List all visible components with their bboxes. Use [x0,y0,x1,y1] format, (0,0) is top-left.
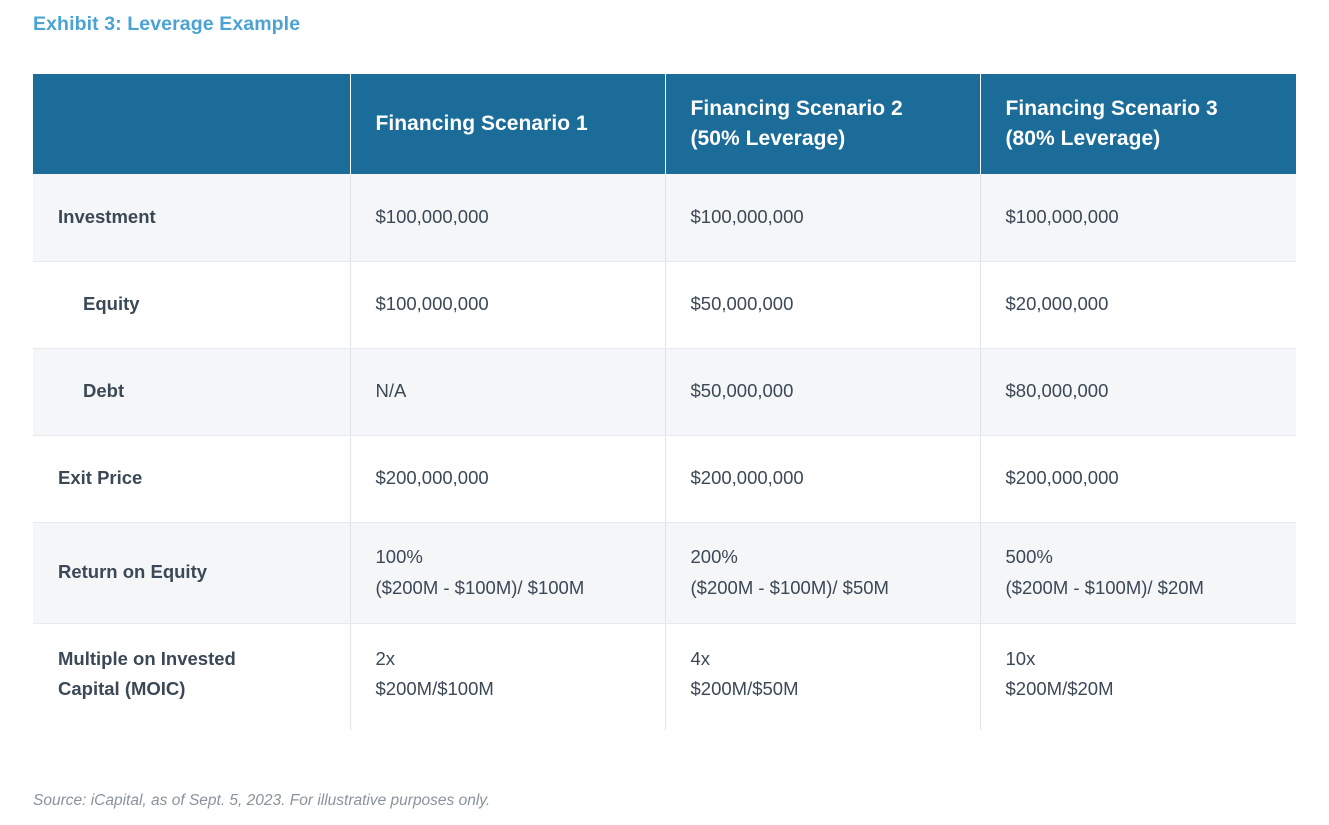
moic-label-line-2: Capital (MOIC) [58,676,336,703]
cell-debt-scenario-1: N/A [350,348,665,435]
roe-s3-percent: 500% [1006,544,1283,571]
cell-equity-scenario-2: $50,000,000 [665,261,980,348]
cell-exit-price-scenario-2: $200,000,000 [665,435,980,522]
moic-s2-formula: $200M/$50M [691,676,966,703]
table-header-row: Financing Scenario 1 Financing Scenario … [33,74,1296,174]
exhibit-page: Exhibit 3: Leverage Example Financing Sc… [0,0,1329,825]
cell-moic-scenario-3: 10x $200M/$20M [980,623,1296,730]
table-row-return-on-equity: Return on Equity 100% ($200M - $100M)/ $… [33,522,1296,623]
cell-equity-scenario-3: $20,000,000 [980,261,1296,348]
page-title: Exhibit 3: Leverage Example [33,13,300,36]
row-label-debt: Debt [33,348,350,435]
cell-return-on-equity-scenario-2: 200% ($200M - $100M)/ $50M [665,522,980,623]
table-body: Investment $100,000,000 $100,000,000 $10… [33,174,1296,730]
row-label-return-on-equity: Return on Equity [33,522,350,623]
moic-label-line-1: Multiple on Invested [58,646,336,673]
row-label-exit-price: Exit Price [33,435,350,522]
roe-s2-formula: ($200M - $100M)/ $50M [691,575,966,602]
header-cell-scenario-1: Financing Scenario 1 [350,74,665,174]
header-cell-blank [33,74,350,174]
moic-s3-multiple: 10x [1006,646,1283,673]
cell-investment-scenario-2: $100,000,000 [665,174,980,261]
moic-s1-formula: $200M/$100M [376,676,651,703]
table-row-moic: Multiple on Invested Capital (MOIC) 2x $… [33,623,1296,730]
moic-s3-formula: $200M/$20M [1006,676,1283,703]
row-label-investment: Investment [33,174,350,261]
cell-exit-price-scenario-3: $200,000,000 [980,435,1296,522]
row-label-moic: Multiple on Invested Capital (MOIC) [33,623,350,730]
roe-s1-percent: 100% [376,544,651,571]
row-label-equity: Equity [33,261,350,348]
cell-debt-scenario-3: $80,000,000 [980,348,1296,435]
roe-s3-formula: ($200M - $100M)/ $20M [1006,575,1283,602]
table-row-investment: Investment $100,000,000 $100,000,000 $10… [33,174,1296,261]
cell-exit-price-scenario-1: $200,000,000 [350,435,665,522]
leverage-example-table: Financing Scenario 1 Financing Scenario … [33,74,1296,730]
cell-return-on-equity-scenario-1: 100% ($200M - $100M)/ $100M [350,522,665,623]
source-note: Source: iCapital, as of Sept. 5, 2023. F… [33,792,490,810]
moic-s2-multiple: 4x [691,646,966,673]
cell-investment-scenario-1: $100,000,000 [350,174,665,261]
header-scenario-3-line-2: (80% Leverage) [1006,126,1297,152]
cell-equity-scenario-1: $100,000,000 [350,261,665,348]
table-row-equity: Equity $100,000,000 $50,000,000 $20,000,… [33,261,1296,348]
header-cell-scenario-3: Financing Scenario 3 (80% Leverage) [980,74,1296,174]
header-scenario-3-line-1: Financing Scenario 3 [1006,96,1297,122]
table-header: Financing Scenario 1 Financing Scenario … [33,74,1296,174]
cell-debt-scenario-2: $50,000,000 [665,348,980,435]
cell-moic-scenario-1: 2x $200M/$100M [350,623,665,730]
header-scenario-1-line-1: Financing Scenario 1 [376,111,665,137]
cell-moic-scenario-2: 4x $200M/$50M [665,623,980,730]
header-scenario-2-line-1: Financing Scenario 2 [691,96,980,122]
moic-s1-multiple: 2x [376,646,651,673]
cell-investment-scenario-3: $100,000,000 [980,174,1296,261]
roe-s1-formula: ($200M - $100M)/ $100M [376,575,651,602]
header-cell-scenario-2: Financing Scenario 2 (50% Leverage) [665,74,980,174]
cell-return-on-equity-scenario-3: 500% ($200M - $100M)/ $20M [980,522,1296,623]
roe-s2-percent: 200% [691,544,966,571]
table-row-exit-price: Exit Price $200,000,000 $200,000,000 $20… [33,435,1296,522]
header-scenario-2-line-2: (50% Leverage) [691,126,980,152]
table-row-debt: Debt N/A $50,000,000 $80,000,000 [33,348,1296,435]
